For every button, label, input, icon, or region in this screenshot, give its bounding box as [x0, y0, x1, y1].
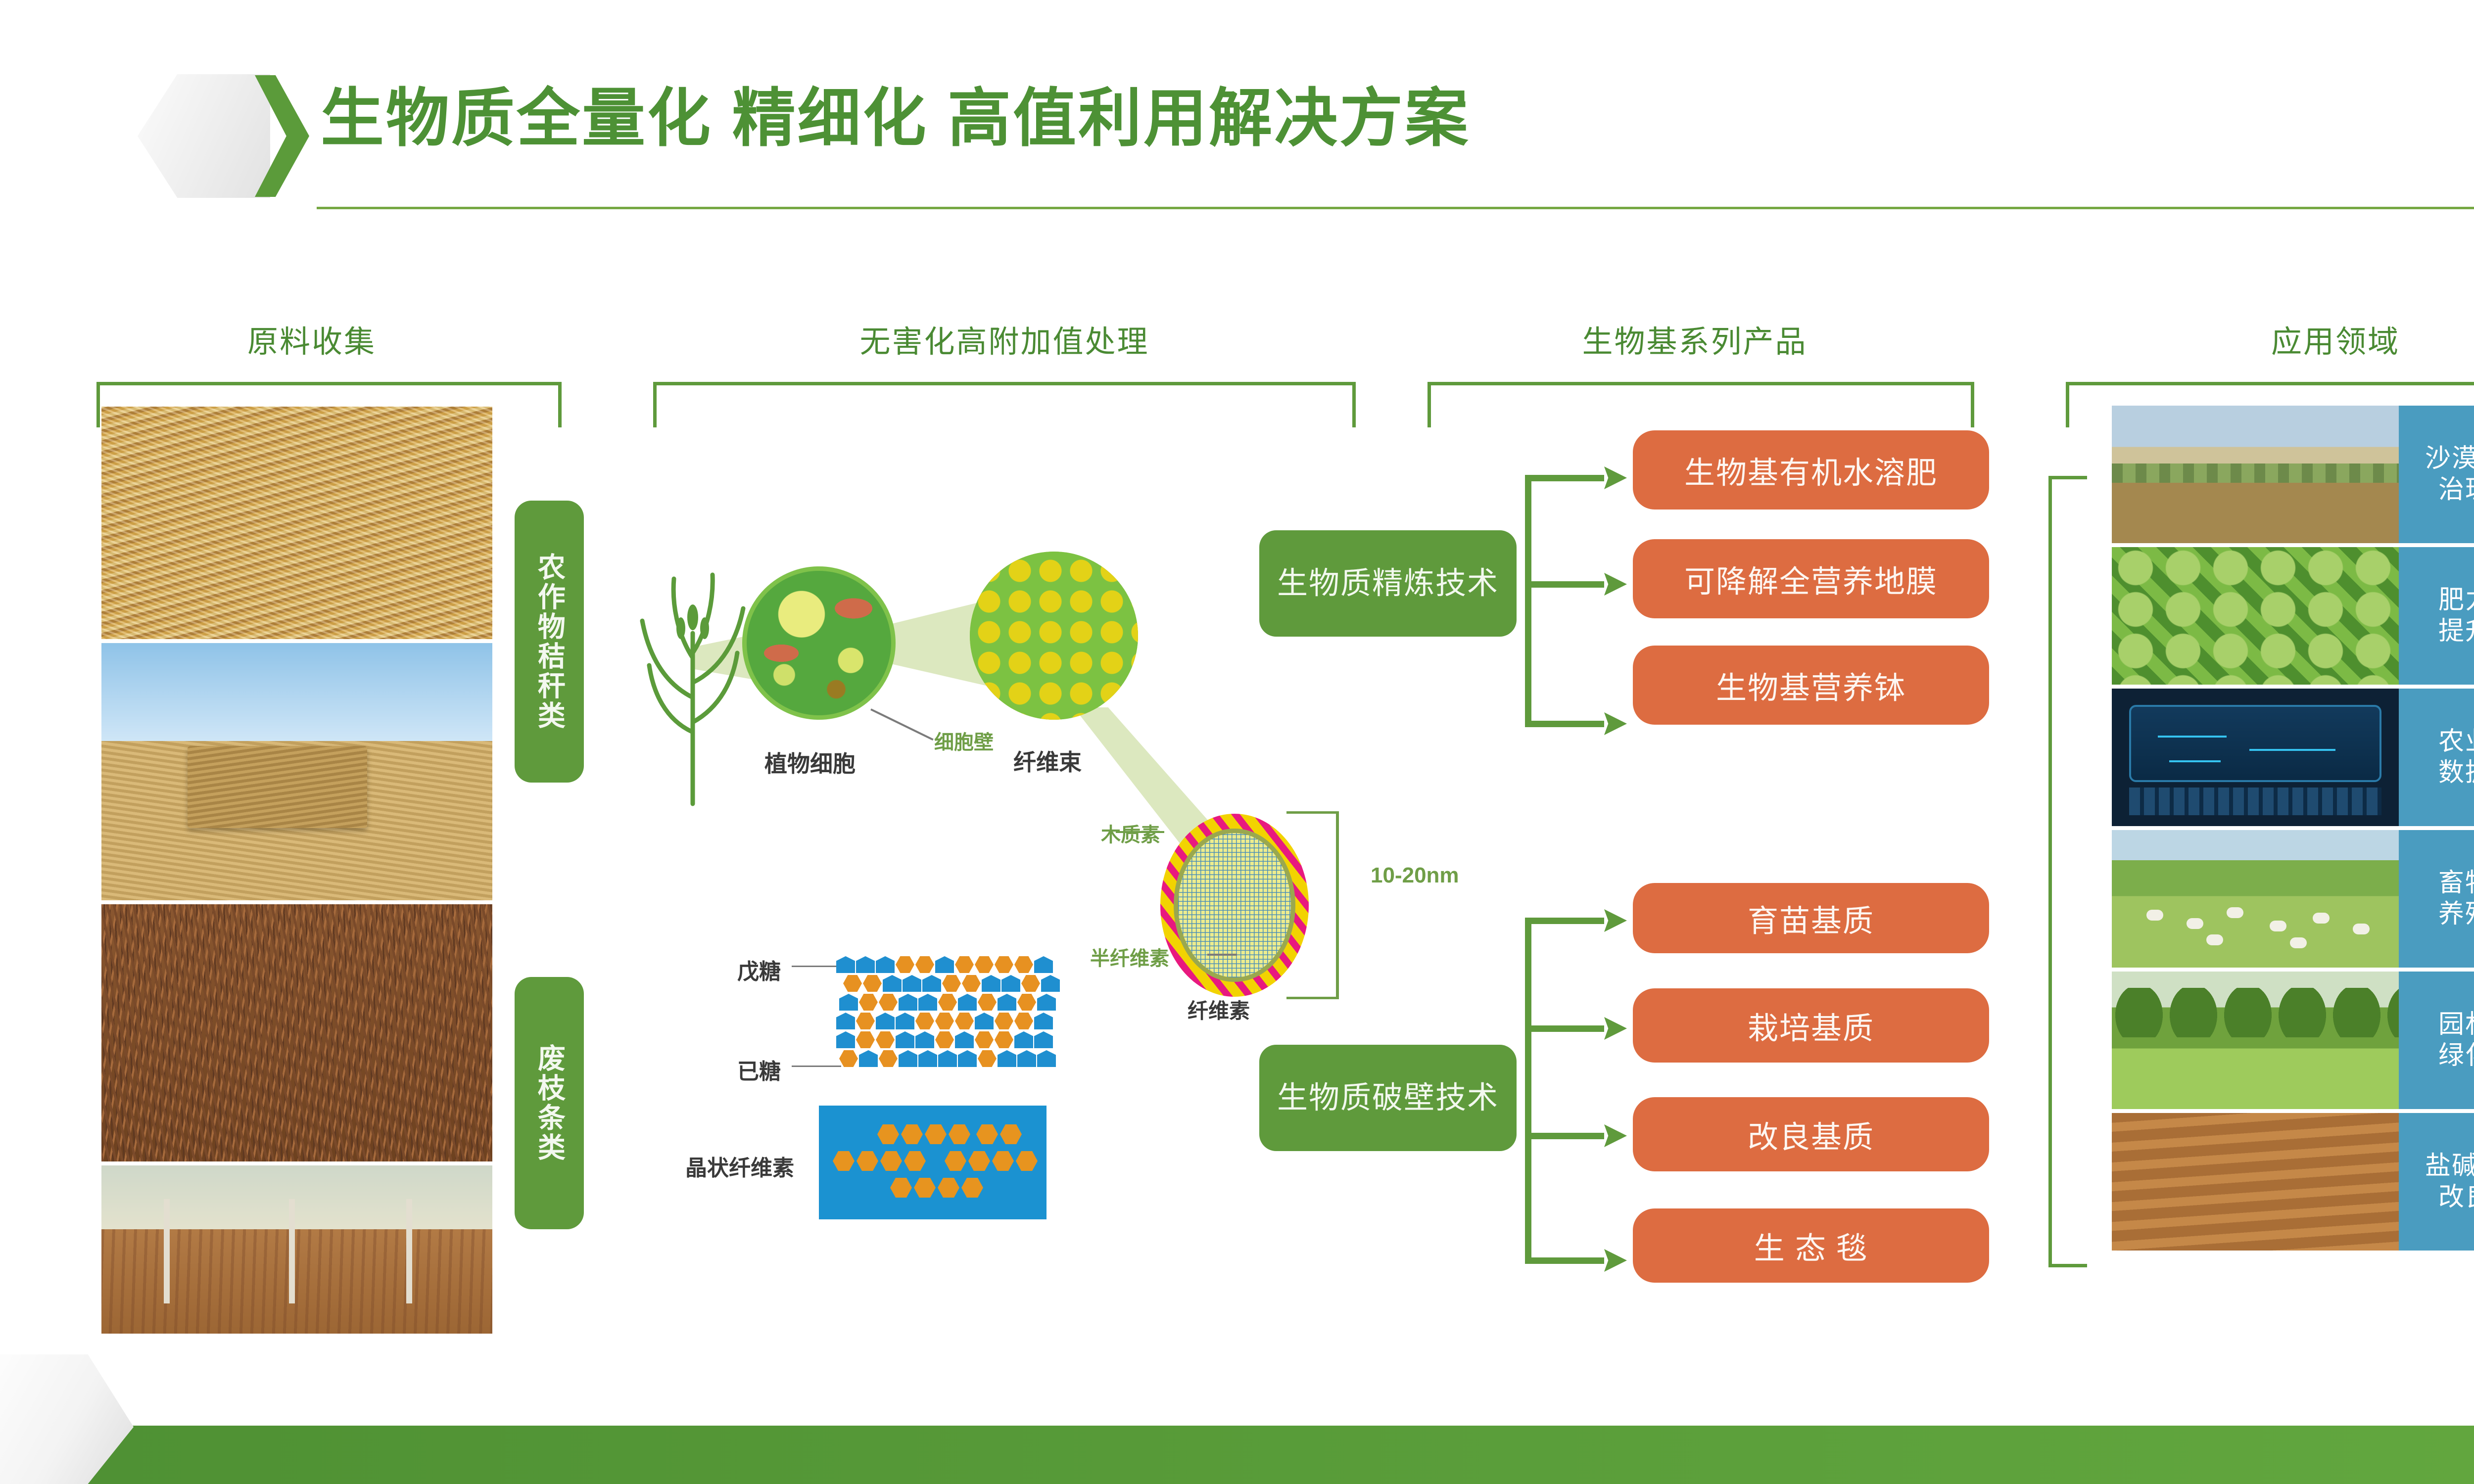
scale-bracket-line — [1336, 811, 1339, 999]
hexagon-badge-icon — [138, 74, 270, 198]
product-cultivation-substrate[interactable]: 栽培基质 — [1633, 988, 1989, 1063]
connector-breaking-4 — [1525, 1257, 1604, 1264]
product-ecological-blanket[interactable]: 生 态 毯 — [1633, 1208, 1989, 1283]
label-pentose: 戊糖 — [737, 954, 781, 985]
connector-refining-1 — [1525, 475, 1604, 481]
application-label-saline-land-improvement: 盐碱地 改良 — [2399, 1113, 2474, 1251]
product-bio-water-soluble-fertilizer[interactable]: 生物基有机水溶肥 — [1633, 430, 1989, 510]
saline-land-photo — [2112, 1113, 2399, 1251]
label-cell-wall: 细胞壁 — [934, 726, 994, 755]
application-label-desert-control: 沙漠化 治理 — [2399, 406, 2474, 543]
raw-category-crop-straw: 农作物秸秆类 — [515, 501, 584, 783]
bracket-bio-products — [1427, 382, 1974, 427]
app-saline-line2: 改良 — [2438, 1183, 2474, 1211]
product-improvement-substrate[interactable]: 改良基质 — [1633, 1097, 1989, 1171]
section-header-raw-material: 原料收集 — [129, 317, 495, 361]
connector-breaking-3 — [1525, 1133, 1604, 1139]
product-bio-nutrient-pot[interactable]: 生物基营养钵 — [1633, 646, 1989, 725]
plant-cell-illustration — [742, 566, 896, 720]
section-header-application-fields: 应用领域 — [2068, 317, 2474, 361]
product-seedling-substrate[interactable]: 育苗基质 — [1633, 883, 1989, 953]
app-garden-line2: 绿化 — [2438, 1041, 2474, 1070]
raw-category-waste-branches: 废枝条类 — [515, 977, 584, 1229]
tech-breaking-line2: 破壁技术 — [1372, 1079, 1499, 1117]
application-row-livestock-breeding[interactable]: 畜牧 养殖 — [2112, 830, 2474, 968]
tech-refining-line1: 生物质 — [1277, 564, 1372, 603]
label-lignin: 木质素 — [1101, 819, 1160, 847]
application-label-livestock-breeding: 畜牧 养殖 — [2399, 830, 2474, 968]
label-hexose: 已糖 — [737, 1054, 781, 1085]
fiber-cross-section-illustration — [1160, 814, 1309, 997]
application-label-fertility-improvement: 肥力 提升 — [2399, 547, 2474, 685]
photo-rice-straw-field — [101, 407, 492, 639]
connector-breaking-1 — [1525, 918, 1604, 924]
app-fertility-line1: 肥力 — [2438, 586, 2474, 614]
app-livestock-line1: 畜牧 — [2438, 869, 2474, 897]
label-fiber-bundle: 纤维束 — [1013, 744, 1082, 777]
agriculture-data-photo — [2112, 689, 2399, 826]
footer-bar — [0, 1426, 2474, 1484]
app-desert-line2: 治理 — [2438, 475, 2474, 504]
fiber-bundle-illustration — [970, 552, 1138, 720]
application-row-fertility-improvement[interactable]: 肥力 提升 — [2112, 547, 2474, 685]
bracket-harmless-treatment — [653, 382, 1356, 427]
tech-refining-line2: 精炼技术 — [1372, 564, 1499, 603]
connector-refining-spine — [1525, 475, 1531, 727]
app-fertility-line2: 提升 — [2438, 617, 2474, 646]
connector-breaking-spine — [1525, 918, 1531, 1264]
arrow-refining-1-icon — [1604, 466, 1627, 489]
label-crystalline-cellulose: 晶状纤维素 — [685, 1150, 794, 1182]
title-underline-divider — [317, 207, 2474, 209]
page-header: 生物质全量化 精细化 高值利用解决方案 — [0, 0, 2474, 237]
arrow-refining-3-icon — [1604, 712, 1627, 735]
tech-box-cell-wall-breaking[interactable]: 生物质 破壁技术 — [1259, 1045, 1517, 1151]
application-label-landscape-greening: 园林 绿化 — [2399, 972, 2474, 1109]
leader-line-cell-wall — [870, 708, 934, 741]
section-header-harmless-treatment: 无害化高附加值处理 — [688, 317, 1321, 361]
crystalline-cellulose-diagram — [819, 1106, 1047, 1219]
connector-refining-3 — [1525, 721, 1604, 727]
tech-breaking-line1: 生物质 — [1277, 1079, 1372, 1117]
app-desert-line1: 沙漠化 — [2425, 444, 2474, 473]
arrow-refining-2-icon — [1604, 573, 1627, 596]
leader-line-lignin — [1116, 831, 1164, 833]
app-data-line1: 农业 — [2438, 727, 2474, 756]
leader-line-pentose — [792, 966, 841, 967]
arrow-breaking-3-icon — [1604, 1124, 1627, 1147]
section-header-bio-products: 生物基系列产品 — [1400, 317, 1989, 361]
product-degradable-nutrient-mulch-film[interactable]: 可降解全营养地膜 — [1633, 539, 1989, 618]
arrow-breaking-1-icon — [1604, 909, 1627, 932]
leader-line-hexose — [792, 1066, 841, 1067]
app-livestock-line2: 养殖 — [2438, 900, 2474, 928]
cabbage-field-photo — [2112, 547, 2399, 685]
app-garden-line1: 园林 — [2438, 1010, 2474, 1039]
arrow-breaking-4-icon — [1604, 1249, 1627, 1272]
connector-breaking-2 — [1525, 1025, 1604, 1032]
scale-bracket-top — [1286, 811, 1339, 814]
grazing-sheep-photo — [2112, 830, 2399, 968]
application-row-desert-control[interactable]: 沙漠化 治理 — [2112, 406, 2474, 543]
label-plant-cell: 植物细胞 — [764, 746, 856, 779]
scale-bracket-bottom — [1286, 997, 1339, 999]
bracket-applications-left — [2048, 476, 2087, 1267]
photo-straw-bale-field — [101, 643, 492, 900]
leader-line-hemicellulose — [1207, 954, 1237, 956]
photo-orchard-prunings — [101, 1165, 492, 1334]
page-title: 生物质全量化 精细化 高值利用解决方案 — [321, 86, 1470, 152]
desert-control-photo — [2112, 406, 2399, 543]
application-row-saline-land-improvement[interactable]: 盐碱地 改良 — [2112, 1113, 2474, 1251]
photo-dry-branches — [101, 904, 492, 1161]
application-row-landscape-greening[interactable]: 园林 绿化 — [2112, 972, 2474, 1109]
connector-refining-2 — [1525, 581, 1604, 588]
application-label-agriculture-data: 农业 数据 — [2399, 689, 2474, 826]
landscape-greening-photo — [2112, 972, 2399, 1109]
label-cellulose: 纤维素 — [1188, 994, 1250, 1024]
arrow-breaking-2-icon — [1604, 1017, 1627, 1040]
sugar-chain-diagram — [836, 947, 1113, 1068]
app-data-line2: 数据 — [2438, 758, 2474, 787]
tech-box-refining[interactable]: 生物质 精炼技术 — [1259, 530, 1517, 637]
label-scale-10-20nm: 10-20nm — [1371, 863, 1459, 888]
app-saline-line1: 盐碱地 — [2425, 1152, 2474, 1180]
plant-grass-icon — [618, 534, 767, 811]
application-row-agriculture-data[interactable]: 农业 数据 — [2112, 689, 2474, 826]
